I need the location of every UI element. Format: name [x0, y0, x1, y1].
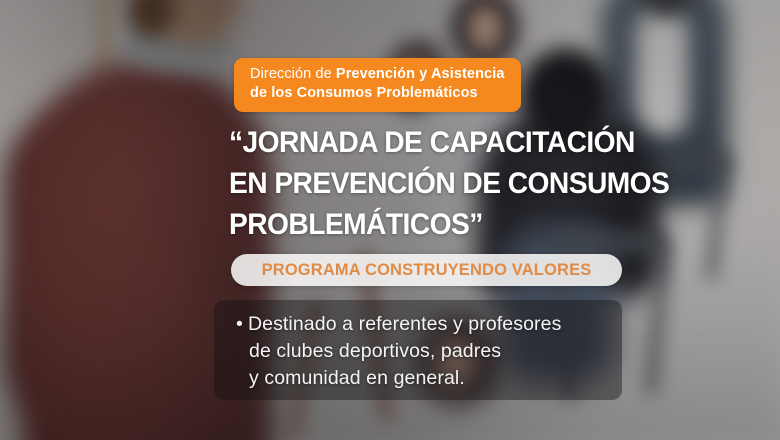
event-poster: Dirección de Prevención y Asistencia de … — [0, 0, 780, 440]
bullet-icon: • — [236, 313, 243, 335]
organization-badge: Dirección de Prevención y Asistencia de … — [234, 58, 521, 112]
poster-title-line-1: “JORNADA DE CAPACITACIÓN — [229, 122, 633, 163]
audience-line-2: de clubes deportivos, padres — [236, 338, 636, 365]
organization-badge-line2: de los Consumos Problemáticos — [250, 85, 478, 101]
program-badge: PROGRAMA CONSTRUYENDO VALORES — [231, 254, 622, 286]
audience-line-1-text: Destinado a referentes y profesores — [248, 313, 562, 335]
poster-content: Dirección de Prevención y Asistencia de … — [0, 0, 780, 440]
poster-title-line-3: PROBLEMÁTICOS” — [229, 204, 633, 245]
audience-line-1: •Destinado a referentes y profesores — [236, 311, 636, 338]
program-badge-label: PROGRAMA CONSTRUYENDO VALORES — [262, 261, 592, 280]
poster-title-line-2: EN PREVENCIÓN DE CONSUMOS — [229, 163, 633, 204]
organization-badge-line1-bold: Prevención y Asistencia — [336, 66, 505, 82]
audience-line-3: y comunidad en general. — [236, 365, 636, 392]
organization-badge-line1-thin: Dirección de — [250, 66, 336, 82]
poster-title: “JORNADA DE CAPACITACIÓN EN PREVENCIÓN D… — [229, 122, 633, 245]
audience-description: •Destinado a referentes y profesores de … — [236, 311, 636, 392]
